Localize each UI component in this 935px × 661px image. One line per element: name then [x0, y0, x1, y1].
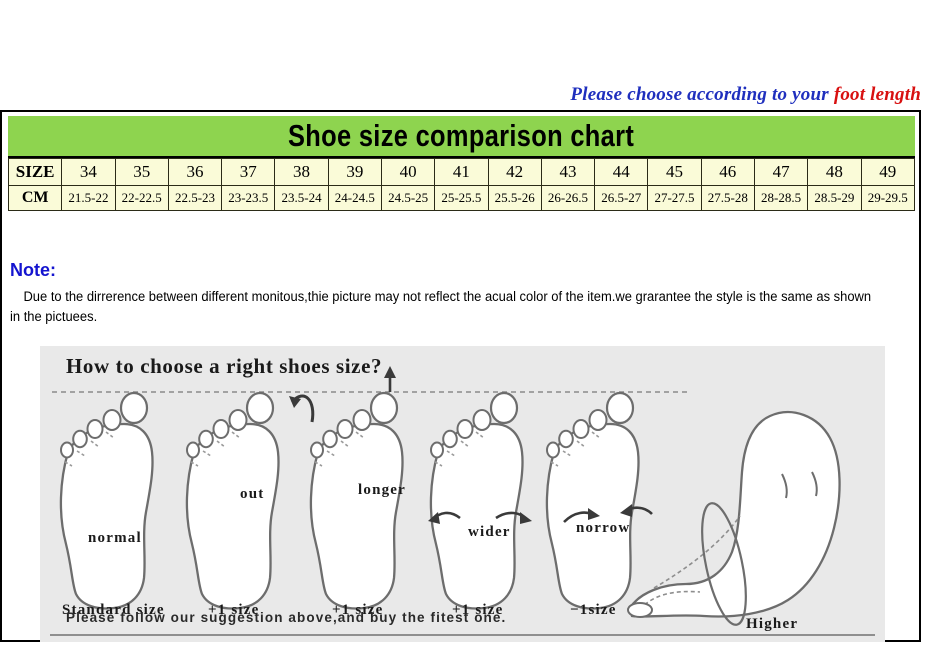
- foot-size-norrow: −1size: [570, 602, 617, 618]
- size-row-header: SIZE: [9, 159, 62, 186]
- diagram-caption: Please follow our suggestion above,and b…: [66, 610, 506, 625]
- size-cell: 35: [115, 159, 168, 186]
- tagline-lead: Please choose according to your: [570, 84, 833, 105]
- size-cell: 43: [541, 159, 594, 186]
- cm-cell: 25.5-26: [488, 186, 541, 211]
- cm-cell: 23.5-24: [275, 186, 328, 211]
- foot-norrow: [547, 393, 652, 608]
- size-cell: 44: [595, 159, 648, 186]
- cm-cell: 29-29.5: [861, 186, 915, 211]
- size-cell: 40: [381, 159, 434, 186]
- foot-normal: [61, 393, 153, 608]
- foot-label-wider: wider: [468, 524, 511, 540]
- cm-cell: 28.5-29: [808, 186, 861, 211]
- tagline-highlight: foot length: [834, 84, 921, 105]
- size-cell: 47: [754, 159, 807, 186]
- foot-wider: [428, 393, 532, 608]
- cm-cell: 23-23.5: [222, 186, 275, 211]
- foot-diagram-graphic: normal Standard size out +1 size: [40, 346, 885, 642]
- cm-cell: 27.5-28: [701, 186, 754, 211]
- foot-profile-higher: [628, 412, 840, 628]
- chart-title-bar: Shoe size comparison chart: [8, 116, 915, 158]
- cm-cell: 27-27.5: [648, 186, 701, 211]
- cm-cell: 21.5-22: [62, 186, 115, 211]
- cm-cell: 22-22.5: [115, 186, 168, 211]
- foot-label-norrow: norrow: [576, 520, 630, 536]
- size-cell: 39: [328, 159, 381, 186]
- size-cell: 41: [435, 159, 488, 186]
- foot-label-longer: longer: [358, 482, 406, 498]
- size-cell: 45: [648, 159, 701, 186]
- cm-cell: 26.5-27: [595, 186, 648, 211]
- cm-cell: 22.5-23: [168, 186, 221, 211]
- note-label: Note:: [10, 260, 910, 281]
- size-cell: 46: [701, 159, 754, 186]
- chart-frame: Shoe size comparison chart SIZE 34 35 36…: [0, 110, 921, 642]
- size-cell: 34: [62, 159, 115, 186]
- size-cell: 38: [275, 159, 328, 186]
- size-chart-page: Please choose according to your foot len…: [0, 0, 935, 661]
- cm-cell: 25-25.5: [435, 186, 488, 211]
- size-cell: 37: [222, 159, 275, 186]
- note-line-1: Due to the dirrerence between different …: [23, 289, 777, 304]
- cm-cell: 26-26.5: [541, 186, 594, 211]
- size-cell: 48: [808, 159, 861, 186]
- cm-cell: 24.5-25: [381, 186, 434, 211]
- foot-diagram-panel: How to choose a right shoes size?: [40, 346, 885, 642]
- cm-cell: 28-28.5: [754, 186, 807, 211]
- foot-label-normal: normal: [88, 530, 142, 546]
- size-cell: 36: [168, 159, 221, 186]
- size-comparison-table: SIZE 34 35 36 37 38 39 40 41 42 43 44 45…: [8, 158, 915, 211]
- table-row-size: SIZE 34 35 36 37 38 39 40 41 42 43 44 45…: [9, 159, 915, 186]
- foot-label-out: out: [240, 486, 264, 502]
- foot-label-higher: Higher: [746, 616, 798, 632]
- note-block: Note: Due to the dirrerence between diff…: [10, 260, 910, 327]
- size-cell: 42: [488, 159, 541, 186]
- table-row-cm: CM 21.5-22 22-22.5 22.5-23 23-23.5 23.5-…: [9, 186, 915, 211]
- caption-divider: [50, 634, 875, 636]
- cm-cell: 24-24.5: [328, 186, 381, 211]
- page-title: Shoe size comparison chart: [288, 118, 634, 154]
- size-cell: 49: [861, 159, 915, 186]
- tagline: Please choose according to your foot len…: [0, 84, 921, 106]
- cm-row-header: CM: [9, 186, 62, 211]
- note-body: Due to the dirrerence between different …: [10, 287, 874, 327]
